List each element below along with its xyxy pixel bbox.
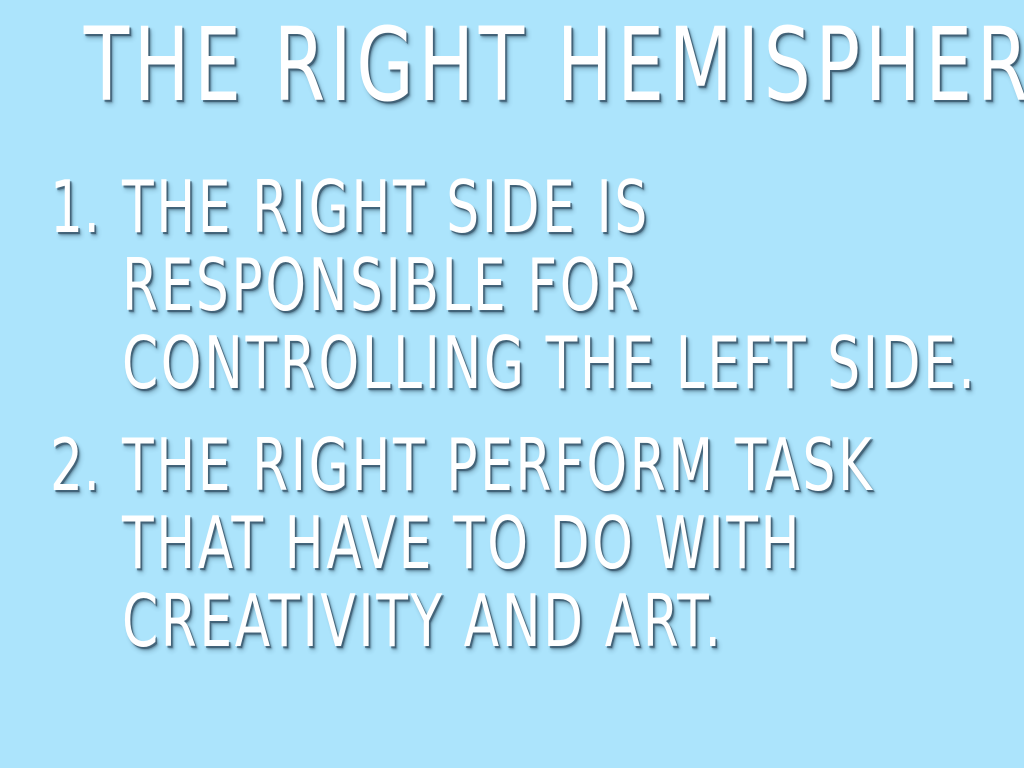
slide-title: THE RIGHT HEMISPHERE. <box>84 14 1024 116</box>
list-item-text: THE RIGHT PERFORM TASK THAT HAVE TO DO W… <box>122 426 1024 660</box>
numbered-list: 1. THE RIGHT SIDE IS RESPONSIBLE FOR CON… <box>50 168 1010 684</box>
list-item-number: 2. <box>50 426 112 504</box>
presentation-slide: THE RIGHT HEMISPHERE. 1. THE RIGHT SIDE … <box>0 0 1024 768</box>
list-item-line: RESPONSIBLE FOR <box>122 246 977 324</box>
list-item-line: THE RIGHT PERFORM TASK <box>122 426 875 504</box>
list-item-line: THE RIGHT SIDE IS <box>122 168 977 246</box>
list-item: 1. THE RIGHT SIDE IS RESPONSIBLE FOR CON… <box>50 168 1010 402</box>
list-item-text: THE RIGHT SIDE IS RESPONSIBLE FOR CONTRO… <box>122 168 1024 402</box>
list-item: 2. THE RIGHT PERFORM TASK THAT HAVE TO D… <box>50 426 1010 660</box>
list-item-line: CONTROLLING THE LEFT SIDE. <box>122 324 977 402</box>
slide-title-block: THE RIGHT HEMISPHERE. <box>0 14 1024 110</box>
list-item-line: THAT HAVE TO DO WITH <box>122 504 875 582</box>
list-item-line: CREATIVITY AND ART. <box>122 582 875 660</box>
list-item-number: 1. <box>50 168 112 246</box>
